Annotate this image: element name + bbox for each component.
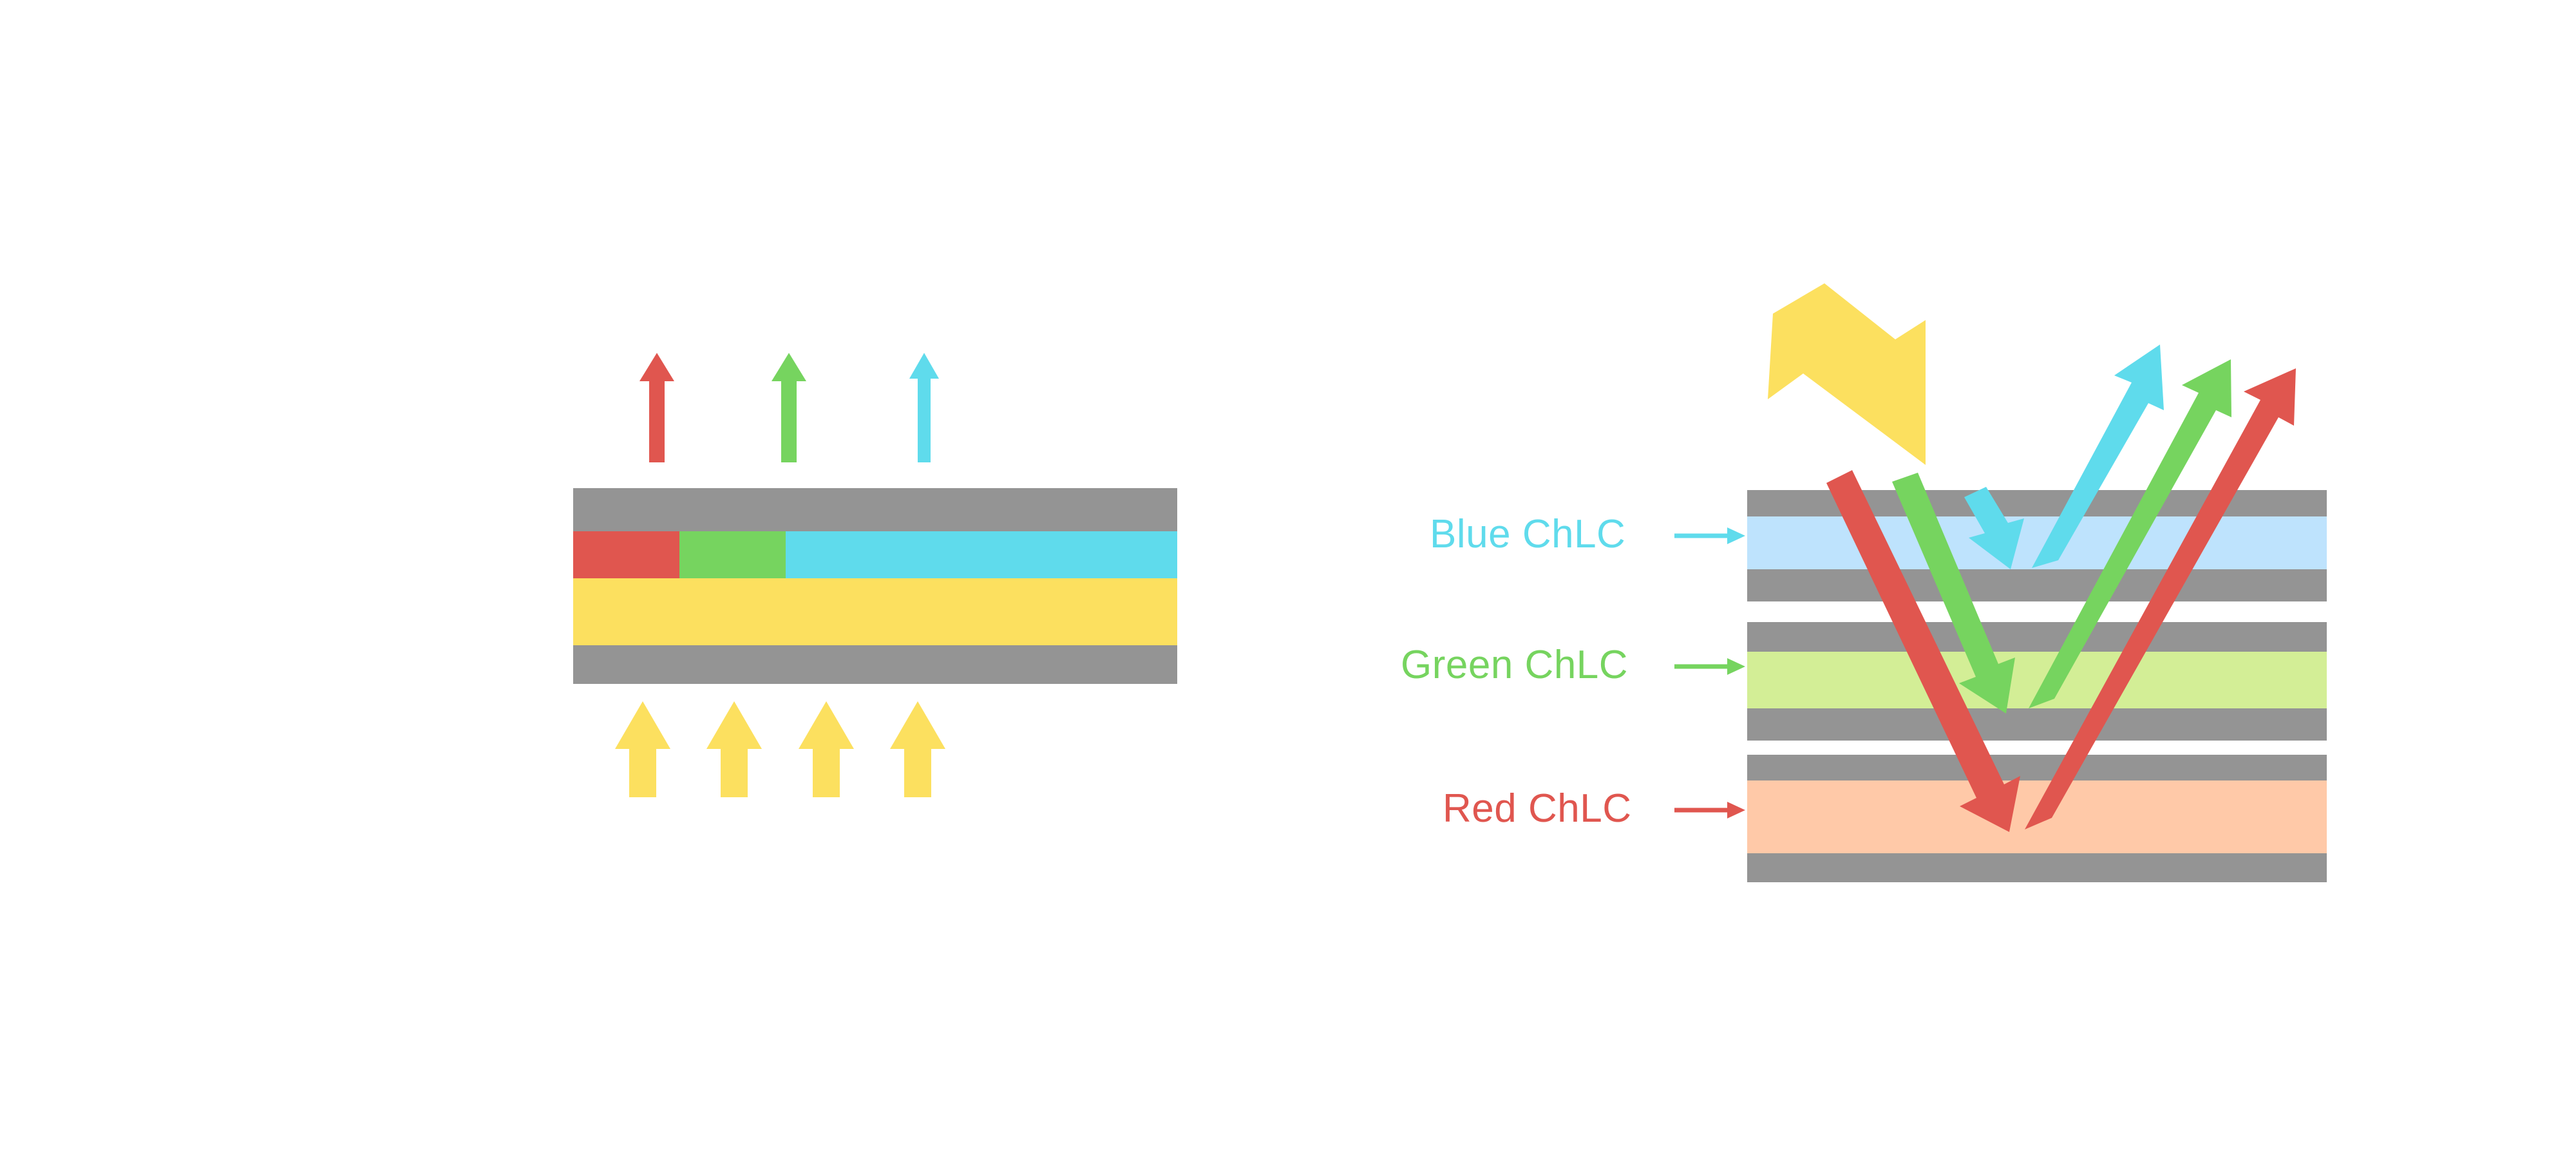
emitted-green-arrow bbox=[772, 353, 806, 462]
blue-chlc-cell bbox=[1747, 490, 2327, 601]
green-chlc-cell bbox=[1747, 622, 2327, 741]
red-label-pointer bbox=[1674, 802, 1745, 818]
backlight-arrow-3 bbox=[799, 701, 854, 797]
green-label-pointer bbox=[1674, 658, 1745, 675]
emitted-red-arrow bbox=[639, 353, 674, 462]
red-cell-top-electrode bbox=[1747, 755, 2327, 780]
backlight-layer bbox=[573, 578, 1177, 645]
left-panel bbox=[573, 353, 1177, 797]
red-chlc-label: Red ChLC bbox=[1443, 786, 1631, 831]
color-filter-row bbox=[573, 531, 1177, 578]
bottom-electrode bbox=[573, 645, 1177, 684]
cell-labels: Blue ChLC Green ChLC Red ChLC bbox=[1401, 512, 1745, 831]
blue-label-pointer bbox=[1674, 527, 1745, 544]
green-cell-bottom-electrode bbox=[1747, 708, 2327, 741]
diagram-canvas: Blue ChLC Green ChLC Red ChLC bbox=[0, 0, 2576, 1154]
backlight-arrows bbox=[615, 701, 945, 797]
chlc-diagram-root: Blue ChLC Green ChLC Red ChLC bbox=[0, 0, 2576, 1154]
emitted-blue-arrow bbox=[909, 353, 939, 462]
emitted-light-arrows bbox=[639, 353, 939, 462]
green-filter-segment bbox=[679, 531, 786, 578]
green-cell-top-electrode bbox=[1747, 622, 2327, 652]
red-cell-bottom-electrode bbox=[1747, 853, 2327, 882]
top-electrode bbox=[573, 488, 1177, 531]
red-filter-segment bbox=[573, 531, 679, 578]
backlight-arrow-2 bbox=[706, 701, 762, 797]
blue-filter-segment bbox=[786, 531, 1177, 578]
backlight-arrow-4 bbox=[890, 701, 945, 797]
backlight-arrow-1 bbox=[615, 701, 670, 797]
blue-cell-bottom-electrode bbox=[1747, 569, 2327, 601]
green-chlc-label: Green ChLC bbox=[1401, 643, 1628, 687]
incident-white-light-arrow bbox=[1768, 283, 1926, 465]
right-panel: Blue ChLC Green ChLC Red ChLC bbox=[1401, 283, 2327, 882]
blue-chlc-label: Blue ChLC bbox=[1430, 512, 1625, 556]
emissive-color-filter-stack bbox=[573, 488, 1177, 684]
